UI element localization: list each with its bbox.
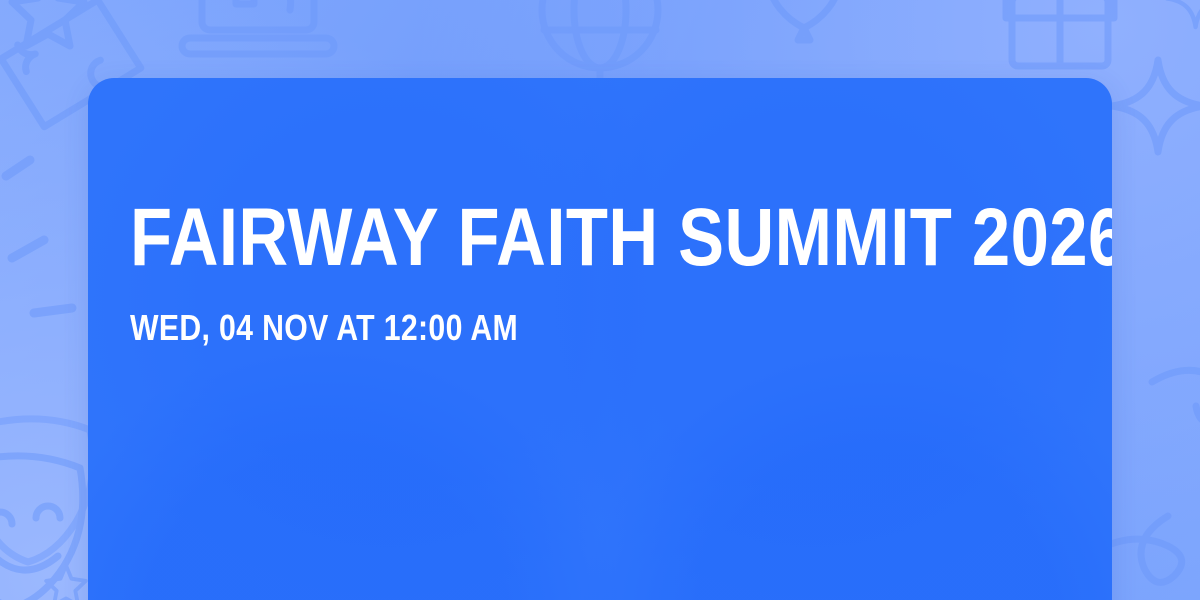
theatre-masks-icon xyxy=(0,419,93,600)
event-title: FAIRWAY FAITH SUMMIT 2026 xyxy=(130,198,920,278)
gift-icon xyxy=(1006,0,1114,66)
event-card: FAIRWAY FAITH SUMMIT 2026 WED, 04 NOV AT… xyxy=(88,78,1112,600)
sparkle-icon xyxy=(1167,0,1200,27)
orb-bottom-left xyxy=(88,338,626,600)
orb-bottom-right xyxy=(578,338,1112,600)
star-icon xyxy=(12,0,84,46)
event-banner: FAIRWAY FAITH SUMMIT 2026 WED, 04 NOV AT… xyxy=(0,0,1200,600)
balloon-icon xyxy=(768,0,840,40)
card-content: FAIRWAY FAITH SUMMIT 2026 WED, 04 NOV AT… xyxy=(130,198,1070,346)
event-datetime: WED, 04 NOV AT 12:00 AM xyxy=(130,310,920,346)
laptop-icon xyxy=(182,0,334,54)
sparkle-icon xyxy=(1112,60,1200,152)
confetti-dash-icon xyxy=(6,160,72,313)
